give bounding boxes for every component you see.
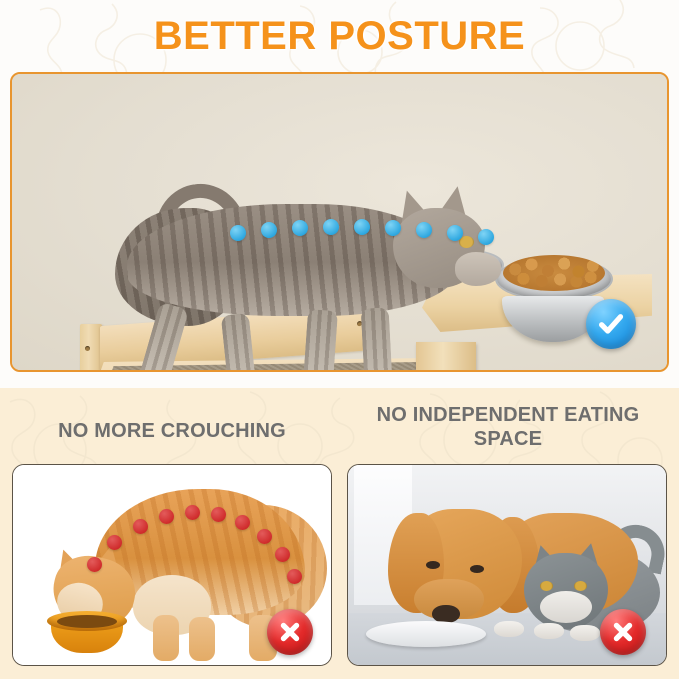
caption-no-independent-eating-space: NO INDEPENDENT EATING SPACE [348,404,668,451]
spine-dot [416,222,432,238]
spine-dot [257,529,272,544]
gray-cat-muzzle [540,591,592,623]
dog-eye [470,565,484,573]
panel-crouching-cat [12,464,332,666]
spine-dot [287,569,302,584]
spine-dot [107,535,122,550]
caption-no-more-crouching: NO MORE CROUCHING [12,420,332,444]
page-title: BETTER POSTURE [0,14,679,59]
cat-leg [302,309,338,372]
gray-cat-paw [570,625,600,641]
shelf-wall-bracket [80,324,102,372]
spine-dot [211,507,226,522]
orange-cat-leg [189,617,215,661]
spine-dot [292,220,308,236]
gray-cat-eye [574,581,587,591]
check-icon [596,309,626,339]
spine-dot [87,557,102,572]
close-icon [610,619,636,645]
spine-dot [354,219,370,235]
spine-dot [478,229,494,245]
shared-food-plate [366,621,486,647]
floor-bowl-interior [57,615,117,628]
spine-dot [159,509,174,524]
gray-cat-eye [540,581,553,591]
spine-dot [261,222,277,238]
cat-leg [361,307,394,372]
spine-dot [185,505,200,520]
cross-badge [267,609,313,655]
spine-dot [230,225,246,241]
cat-leg [221,313,258,372]
cross-badge [600,609,646,655]
spine-dot [447,225,463,241]
spine-dot [385,220,401,236]
close-icon [277,619,303,645]
spine-dot [323,219,339,235]
dog-eye [426,561,440,569]
spine-dot [235,515,250,530]
panel-shared-eating-space [347,464,667,666]
orange-cat-leg [153,615,179,661]
gray-cat-paw [534,623,564,639]
cat-muzzle [455,252,501,286]
spine-dot [133,519,148,534]
spine-dot [275,547,290,562]
dog-paw [494,621,524,637]
hero-product-panel [10,72,669,372]
check-badge [586,299,636,349]
gray-tabby-cat [107,174,527,372]
